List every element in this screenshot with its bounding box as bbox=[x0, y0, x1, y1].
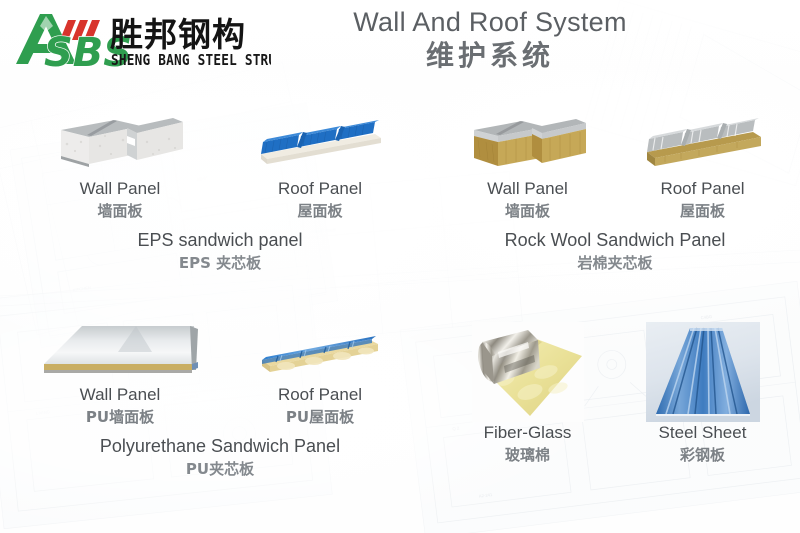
product-label-en: Wall Panel bbox=[440, 178, 615, 200]
pu-roof-panel-image bbox=[220, 312, 420, 384]
product-pair: Fiber-Glass 玻璃棉 bbox=[440, 312, 790, 466]
rockwool-wall-panel-image bbox=[440, 104, 615, 178]
logo-english-name: SHENG BANG STEEL STRUCTURE bbox=[111, 52, 271, 69]
product-pair: Wall Panel 墙面板 bbox=[440, 104, 790, 222]
product-label-cn: 彩钢板 bbox=[615, 444, 790, 466]
product-item-rockwool-wall[interactable]: Wall Panel 墙面板 bbox=[440, 104, 615, 222]
product-label-cn: 墙面板 bbox=[20, 200, 220, 222]
product-label-en: Wall Panel bbox=[20, 384, 220, 406]
pu-wall-panel-image bbox=[20, 312, 220, 384]
product-item-rockwool-roof[interactable]: Roof Panel 屋面板 bbox=[615, 104, 790, 222]
page-title-chinese: 维护系统 bbox=[300, 38, 680, 74]
svg-text:胜邦钢构: 胜邦钢构 bbox=[110, 15, 246, 54]
group-label-en: EPS sandwich panel bbox=[20, 228, 420, 252]
group-label-cn: 岩棉夹芯板 bbox=[440, 252, 790, 274]
product-label-en: Roof Panel bbox=[220, 178, 420, 200]
group-label-cn: EPS 夹芯板 bbox=[20, 252, 420, 274]
header: SBS 胜邦钢构 SHENG BANG STEEL STRUCTURE Wall… bbox=[0, 0, 800, 96]
steel-sheet-image bbox=[615, 312, 790, 422]
eps-wall-panel-image bbox=[20, 104, 220, 178]
group-label-en: Polyurethane Sandwich Panel bbox=[20, 434, 420, 458]
page-title-block: Wall And Roof System 维护系统 bbox=[300, 6, 680, 74]
product-group-eps: Wall Panel 墙面板 bbox=[20, 104, 420, 284]
logo-chinese-name: 胜邦钢构 bbox=[110, 15, 246, 54]
rockwool-roof-panel-image bbox=[615, 104, 790, 178]
product-pair: Wall Panel 墙面板 bbox=[20, 104, 420, 222]
product-label-en: Roof Panel bbox=[615, 178, 790, 200]
product-item-pu-wall[interactable]: Wall Panel PU墙面板 bbox=[20, 312, 220, 428]
svg-text:SHENG BANG STEEL STRUCTURE: SHENG BANG STEEL STRUCTURE bbox=[111, 52, 271, 69]
product-group-pu: Wall Panel PU墙面板 bbox=[20, 312, 420, 512]
eps-roof-panel-image bbox=[220, 104, 420, 178]
product-label-cn: PU屋面板 bbox=[220, 406, 420, 428]
product-label-en: Fiber-Glass bbox=[440, 422, 615, 444]
product-group-misc: Fiber-Glass 玻璃棉 bbox=[440, 312, 790, 512]
product-label-cn: 玻璃棉 bbox=[440, 444, 615, 466]
product-label-cn: 屋面板 bbox=[615, 200, 790, 222]
product-item-eps-roof[interactable]: Roof Panel 屋面板 bbox=[220, 104, 420, 222]
product-item-eps-wall[interactable]: Wall Panel 墙面板 bbox=[20, 104, 220, 222]
group-label-cn: PU夹芯板 bbox=[20, 458, 420, 480]
group-label-en: Rock Wool Sandwich Panel bbox=[440, 228, 790, 252]
product-label-cn: PU墙面板 bbox=[20, 406, 220, 428]
page-title-english: Wall And Roof System bbox=[300, 6, 680, 38]
product-label-cn: 屋面板 bbox=[220, 200, 420, 222]
product-item-fiberglass[interactable]: Fiber-Glass 玻璃棉 bbox=[440, 312, 615, 466]
product-item-pu-roof[interactable]: Roof Panel PU屋面板 bbox=[220, 312, 420, 428]
product-pair: Wall Panel PU墙面板 bbox=[20, 312, 420, 428]
product-label-en: Roof Panel bbox=[220, 384, 420, 406]
product-group-rockwool: Wall Panel 墙面板 bbox=[440, 104, 790, 284]
product-label-en: Steel Sheet bbox=[615, 422, 790, 444]
product-label-en: Wall Panel bbox=[20, 178, 220, 200]
product-item-steelsheet[interactable]: Steel Sheet 彩钢板 bbox=[615, 312, 790, 466]
company-logo: SBS 胜邦钢构 SHENG BANG STEEL STRUCTURE bbox=[6, 6, 271, 72]
product-label-cn: 墙面板 bbox=[440, 200, 615, 222]
fiber-glass-roll-image bbox=[440, 312, 615, 422]
